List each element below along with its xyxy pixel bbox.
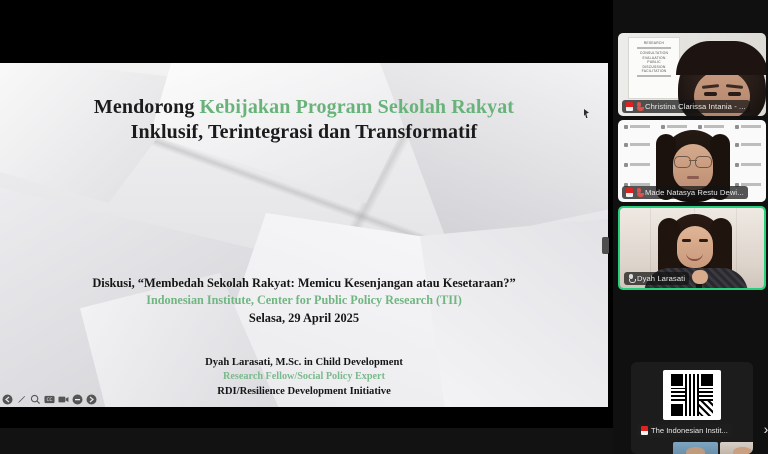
participant-thumbnail[interactable]	[673, 442, 718, 454]
participant-name-bar-1: Christina Clarissa Intania - ...	[622, 100, 750, 113]
slide-subtitle-date: Selasa, 29 April 2025	[0, 309, 608, 327]
qr-code-icon	[671, 374, 713, 416]
next-page-chevron-icon[interactable]: ›	[758, 419, 768, 439]
zoom-search-icon[interactable]	[30, 394, 41, 405]
mic-muted-icon	[636, 188, 642, 197]
slide-subtitle-block: Diskusi, “Membedah Sekolah Rakyat: Memic…	[0, 275, 608, 327]
flag-icon	[641, 426, 648, 435]
participant-name-3: Dyah Larasati	[637, 274, 685, 283]
participant-name-2: Made Natasya Restu Dewi...	[645, 188, 744, 197]
share-letterbox-bottom	[0, 407, 613, 428]
presentation-slide[interactable]: Mendorong Kebijakan Program Sekolah Raky…	[0, 63, 608, 407]
qr-code-frame	[663, 370, 721, 420]
presenter-role: Research Fellow/Social Policy Expert	[0, 370, 608, 384]
closed-caption-icon[interactable]: CC	[44, 394, 55, 405]
flag-icon	[626, 102, 633, 111]
participant-name-bar-2: Made Natasya Restu Dewi...	[622, 186, 748, 199]
slide-subtitle-discussion: Diskusi, “Membedah Sekolah Rakyat: Memic…	[0, 275, 608, 292]
participant-name-1: Christina Clarissa Intania - ...	[645, 102, 746, 111]
share-letterbox-top	[0, 0, 613, 63]
previous-slide-icon[interactable]	[2, 394, 13, 405]
next-slide-icon[interactable]	[86, 394, 97, 405]
svg-text:CC: CC	[47, 397, 53, 402]
slide-subtitle-organizer: Indonesian Institute, Center for Public …	[0, 292, 608, 309]
video-conference-window: Mendorong Kebijakan Program Sekolah Raky…	[0, 0, 768, 454]
participant-name-bar-3: Dyah Larasati	[624, 272, 689, 285]
participant-rail: RESEARCH CONSULTATION EVALUATION PUBLIC …	[613, 0, 768, 454]
video-icon[interactable]	[58, 394, 69, 405]
slide-annotation-toolbar[interactable]: CC	[2, 394, 97, 405]
slide-title-green-part: Kebijakan Program Sekolah Rakyat	[200, 96, 515, 118]
flag-icon	[626, 188, 633, 197]
minimize-icon[interactable]	[72, 394, 83, 405]
slide-title-line2: Inklusif, Terintegrasi dan Transformatif	[0, 119, 608, 145]
participant-tile-3-active-speaker[interactable]: Dyah Larasati	[618, 206, 766, 290]
content-share-tile[interactable]: The Indonesian Instit...	[631, 362, 753, 454]
mic-icon	[628, 274, 634, 283]
slide-title: Mendorong Kebijakan Program Sekolah Raky…	[0, 95, 608, 145]
participant-thumbnail[interactable]	[720, 442, 753, 454]
participant-tile-2[interactable]: Made Natasya Restu Dewi...	[618, 120, 766, 202]
slide-title-black-part: Mendorong	[94, 96, 200, 118]
participant-tile-1[interactable]: RESEARCH CONSULTATION EVALUATION PUBLIC …	[618, 33, 766, 116]
pen-annotate-icon[interactable]	[16, 394, 27, 405]
content-tile-name: The Indonesian Instit...	[651, 426, 728, 435]
mic-muted-icon	[636, 102, 642, 111]
participant-thumbnail-row[interactable]	[673, 442, 753, 454]
content-tile-name-bar: The Indonesian Instit...	[637, 424, 732, 437]
background-poster: RESEARCH CONSULTATION EVALUATION PUBLIC …	[628, 37, 680, 99]
shared-screen-area[interactable]: Mendorong Kebijakan Program Sekolah Raky…	[0, 0, 613, 454]
slide-presenter-block: Dyah Larasati, M.Sc. in Child Developmen…	[0, 355, 608, 399]
share-lower-gutter	[0, 428, 613, 454]
presenter-name: Dyah Larasati, M.Sc. in Child Developmen…	[0, 355, 608, 370]
